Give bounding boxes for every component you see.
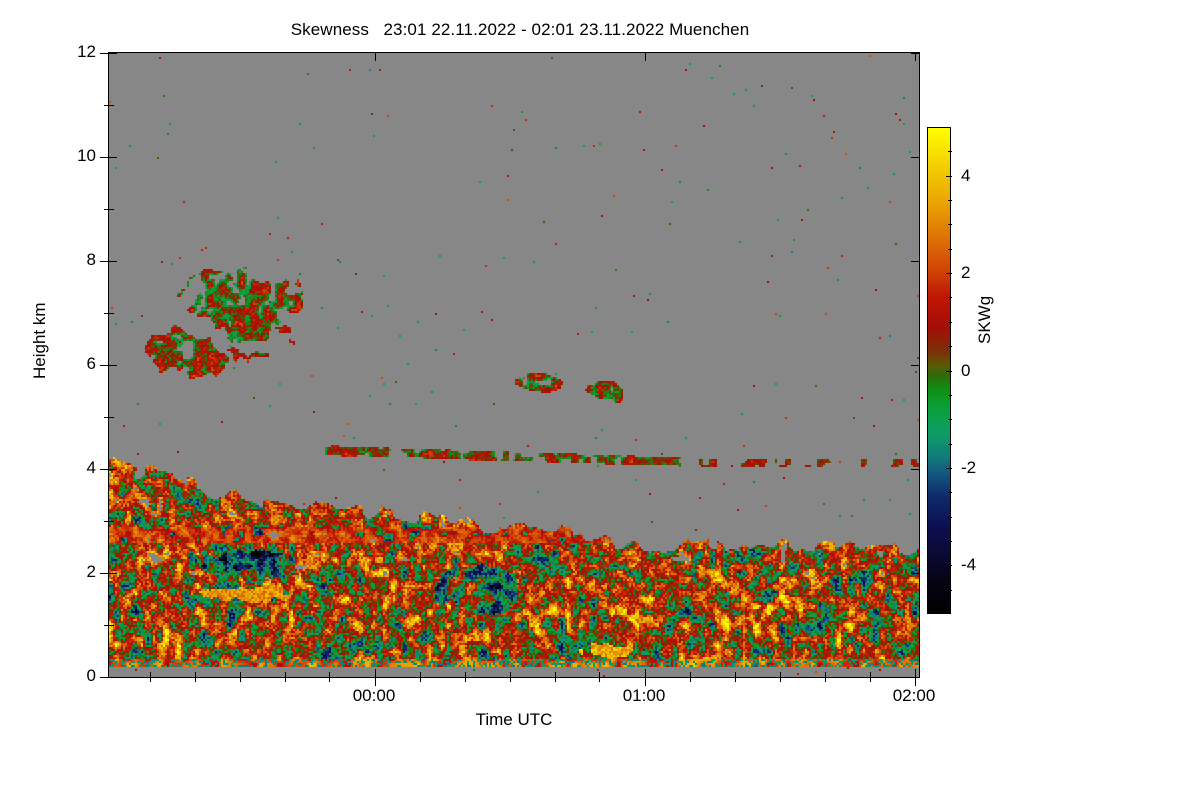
x-tick-major [375, 669, 376, 677]
x-tick-label: 00:00 [353, 686, 396, 706]
colorbar-tick-minor [948, 444, 952, 445]
x-tick-minor [555, 677, 556, 682]
y-tick-label: 8 [87, 250, 96, 270]
colorbar-tick-minor [948, 297, 952, 298]
colorbar-tick-label: -4 [961, 555, 976, 575]
x-tick-major [645, 677, 646, 686]
x-tick-minor [329, 672, 330, 677]
y-tick-major-right [911, 157, 920, 158]
x-tick-minor [195, 677, 196, 682]
x-tick-major [375, 677, 376, 686]
y-tick-major [100, 157, 109, 158]
y-tick-major [109, 573, 117, 574]
colorbar-tick-minor [948, 249, 952, 250]
x-tick-minor [420, 672, 421, 677]
y-tick-label: 10 [77, 146, 96, 166]
y-tick-major [109, 53, 117, 54]
x-tick-minor [735, 677, 736, 682]
y-tick-minor [109, 105, 114, 106]
colorbar-tick-major [946, 273, 952, 274]
x-tick-minor [780, 677, 781, 682]
x-axis-title: Time UTC [476, 710, 553, 730]
x-tick-minor [465, 672, 466, 677]
colorbar-tick-minor [948, 419, 952, 420]
x-tick-minor [240, 672, 241, 677]
y-tick-major [100, 53, 109, 54]
skewness-heatmap [109, 53, 919, 677]
colorbar-tick-minor [948, 395, 952, 396]
y-tick-major [109, 365, 117, 366]
y-tick-major [100, 469, 109, 470]
x-tick-minor [465, 677, 466, 682]
heatmap-plot-area[interactable] [108, 52, 920, 678]
x-tick-major [645, 669, 646, 677]
y-tick-major [100, 677, 109, 678]
x-tick-minor [150, 677, 151, 682]
y-tick-major [100, 261, 109, 262]
colorbar-tick-minor [948, 590, 952, 591]
colorbar[interactable]: -4-2024 [927, 127, 951, 614]
y-tick-major-right [911, 261, 920, 262]
y-tick-major-right [911, 573, 920, 574]
colorbar-tick-minor [948, 322, 952, 323]
y-tick-minor [109, 209, 114, 210]
x-tick-minor [195, 672, 196, 677]
colorbar-tick-minor [948, 492, 952, 493]
x-tick-minor [690, 677, 691, 682]
x-tick-label: 01:00 [623, 686, 666, 706]
colorbar-title: SKWg [975, 296, 995, 344]
x-tick-minor [510, 672, 511, 677]
colorbar-tick-minor [948, 346, 952, 347]
x-tick-minor [825, 672, 826, 677]
colorbar-tick-minor [948, 224, 952, 225]
x-tick-minor [285, 677, 286, 682]
y-tick-major [100, 365, 109, 366]
x-tick-minor [690, 672, 691, 677]
y-tick-major [109, 677, 117, 678]
colorbar-tick-label: 2 [961, 263, 970, 283]
colorbar-tick-label: -2 [961, 458, 976, 478]
y-axis-title: Height km [30, 302, 50, 379]
y-tick-label: 2 [87, 562, 96, 582]
x-tick-minor [240, 677, 241, 682]
y-tick-minor [109, 625, 114, 626]
colorbar-tick-label: 4 [961, 166, 970, 186]
x-tick-minor [329, 677, 330, 682]
y-tick-label: 12 [77, 42, 96, 62]
colorbar-tick-minor [948, 200, 952, 201]
x-tick-major-top [375, 52, 376, 61]
colorbar-tick-minor [948, 151, 952, 152]
x-tick-minor [555, 672, 556, 677]
colorbar-tick-minor [948, 541, 952, 542]
y-tick-major [109, 469, 117, 470]
y-tick-minor [109, 313, 114, 314]
colorbar-tick-major [946, 371, 952, 372]
x-tick-minor [599, 672, 600, 677]
colorbar-tick-minor [948, 517, 952, 518]
x-tick-minor [599, 677, 600, 682]
x-tick-minor [510, 677, 511, 682]
figure-canvas: Skewness 23:01 22.11.2022 - 02:01 23.11.… [0, 0, 1200, 800]
y-tick-label: 6 [87, 354, 96, 374]
y-tick-label: 4 [87, 458, 96, 478]
colorbar-tick-major [946, 468, 952, 469]
y-tick-minor [109, 521, 114, 522]
x-tick-minor [735, 672, 736, 677]
x-tick-major [915, 677, 916, 686]
x-tick-major-top [645, 52, 646, 61]
x-tick-major [915, 669, 916, 677]
x-tick-minor [870, 677, 871, 682]
y-tick-major [100, 573, 109, 574]
y-tick-major-right [911, 469, 920, 470]
x-tick-label: 02:00 [893, 686, 936, 706]
y-tick-major-right [911, 365, 920, 366]
x-tick-major-top [915, 52, 916, 61]
x-tick-minor [420, 677, 421, 682]
y-tick-minor [109, 417, 114, 418]
x-tick-minor [150, 672, 151, 677]
x-tick-minor [780, 672, 781, 677]
colorbar-tick-major [946, 565, 952, 566]
x-tick-minor [285, 672, 286, 677]
figure-title: Skewness 23:01 22.11.2022 - 02:01 23.11.… [0, 20, 1040, 40]
x-tick-minor [870, 672, 871, 677]
y-tick-label: 0 [87, 666, 96, 686]
colorbar-tick-major [946, 176, 952, 177]
y-tick-major [109, 157, 117, 158]
y-tick-major [109, 261, 117, 262]
colorbar-tick-label: 0 [961, 361, 970, 381]
x-tick-minor [825, 677, 826, 682]
